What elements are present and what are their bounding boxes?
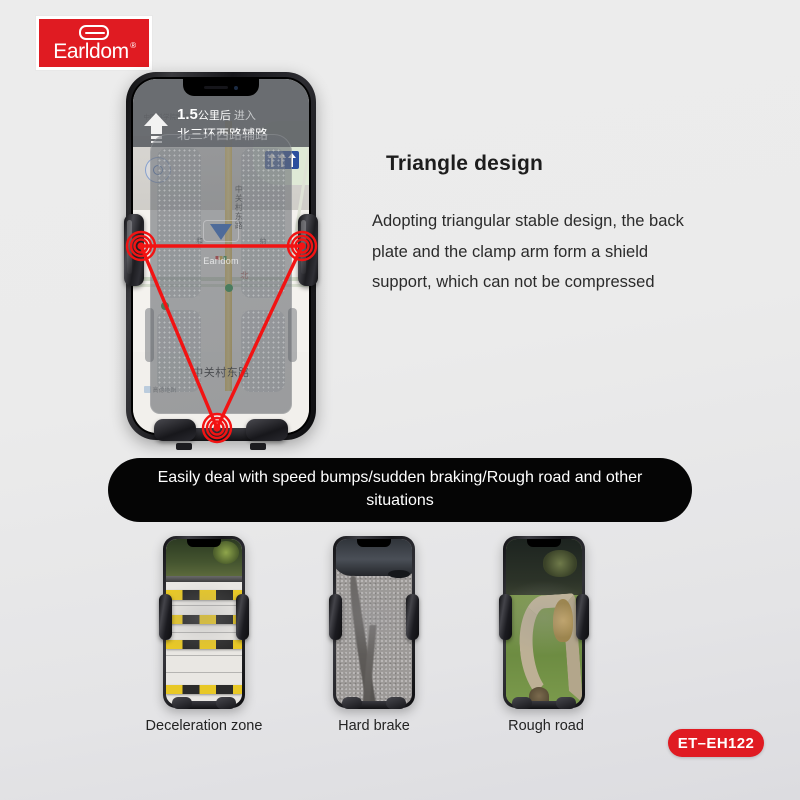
bottom-cradle-icon: [342, 696, 406, 711]
scenario-phone-deceleration-zone: [163, 536, 245, 708]
caption-deceleration-zone: Deceleration zone: [114, 718, 294, 734]
thumb-notch: [527, 539, 561, 547]
registered-trademark-icon: ®: [130, 42, 136, 50]
caption-hard-brake: Hard brake: [284, 718, 464, 734]
front-camera-icon: [234, 86, 238, 90]
holder-pad-lower-left: [157, 310, 201, 392]
cradle-pad-left: [154, 419, 196, 441]
cradle-pad-right: [246, 419, 288, 441]
logo-wordmark: Earldom ®: [53, 41, 134, 62]
clamp-arm-icon: [329, 594, 342, 640]
situations-banner: Easily deal with speed bumps/sudden brak…: [108, 458, 692, 522]
cradle-foot-right: [250, 443, 266, 450]
bottom-cradle-icon: [512, 696, 576, 711]
page-title: Triangle design: [386, 152, 706, 176]
scenario-phone-rough-road: [503, 536, 585, 708]
model-code: ET–EH122: [678, 735, 755, 752]
earldom-e-mark-icon: [79, 25, 109, 40]
clamp-arm-icon: [298, 214, 318, 286]
navigation-distance-unit: 公里后: [198, 110, 231, 122]
clamp-arm-icon: [406, 594, 419, 640]
clamp-arm-icon: [499, 594, 512, 640]
thumb-notch: [357, 539, 391, 547]
scenario-phone-hard-brake: [333, 536, 415, 708]
feature-description: Adopting triangular stable design, the b…: [372, 206, 692, 298]
bottom-cradle-icon: [172, 696, 236, 711]
clamp-arm-icon: [236, 594, 249, 640]
earldom-logo: Earldom ®: [36, 16, 152, 70]
navigation-distance-line: 1.5公里后进入: [177, 106, 301, 123]
holder-pad-upper-left: [157, 148, 201, 298]
clamp-arm-icon: [576, 594, 589, 640]
status-badge: ET–EH122: [668, 729, 764, 757]
navigation-action: 进入: [234, 110, 256, 122]
cradle-foot-left: [176, 443, 192, 450]
main-phone-mockup: 中国科学院物理研究所 中关村东路 北 和 纳 中关村东路 高德地图: [126, 72, 316, 440]
clamp-arm-icon: [124, 214, 144, 286]
holder-pad-lower-right: [241, 310, 285, 392]
clamp-arm-icon: [159, 594, 172, 640]
holder-pad-upper-right: [241, 148, 285, 298]
situations-banner-text: Easily deal with speed bumps/sudden brak…: [142, 467, 658, 512]
speaker-icon: [204, 86, 228, 89]
phone-notch: [183, 79, 259, 96]
holder-center-slot: [203, 220, 239, 242]
logo-brand-text: Earldom: [53, 40, 128, 63]
holder-back-plate: Earldom: [150, 134, 292, 414]
navigation-distance-value: 1.5: [177, 106, 198, 123]
bottom-cradle-icon: [152, 416, 290, 446]
thumb-notch: [187, 539, 221, 547]
caption-rough-road: Rough road: [456, 718, 636, 734]
holder-brand-text: Earldom: [203, 256, 239, 266]
